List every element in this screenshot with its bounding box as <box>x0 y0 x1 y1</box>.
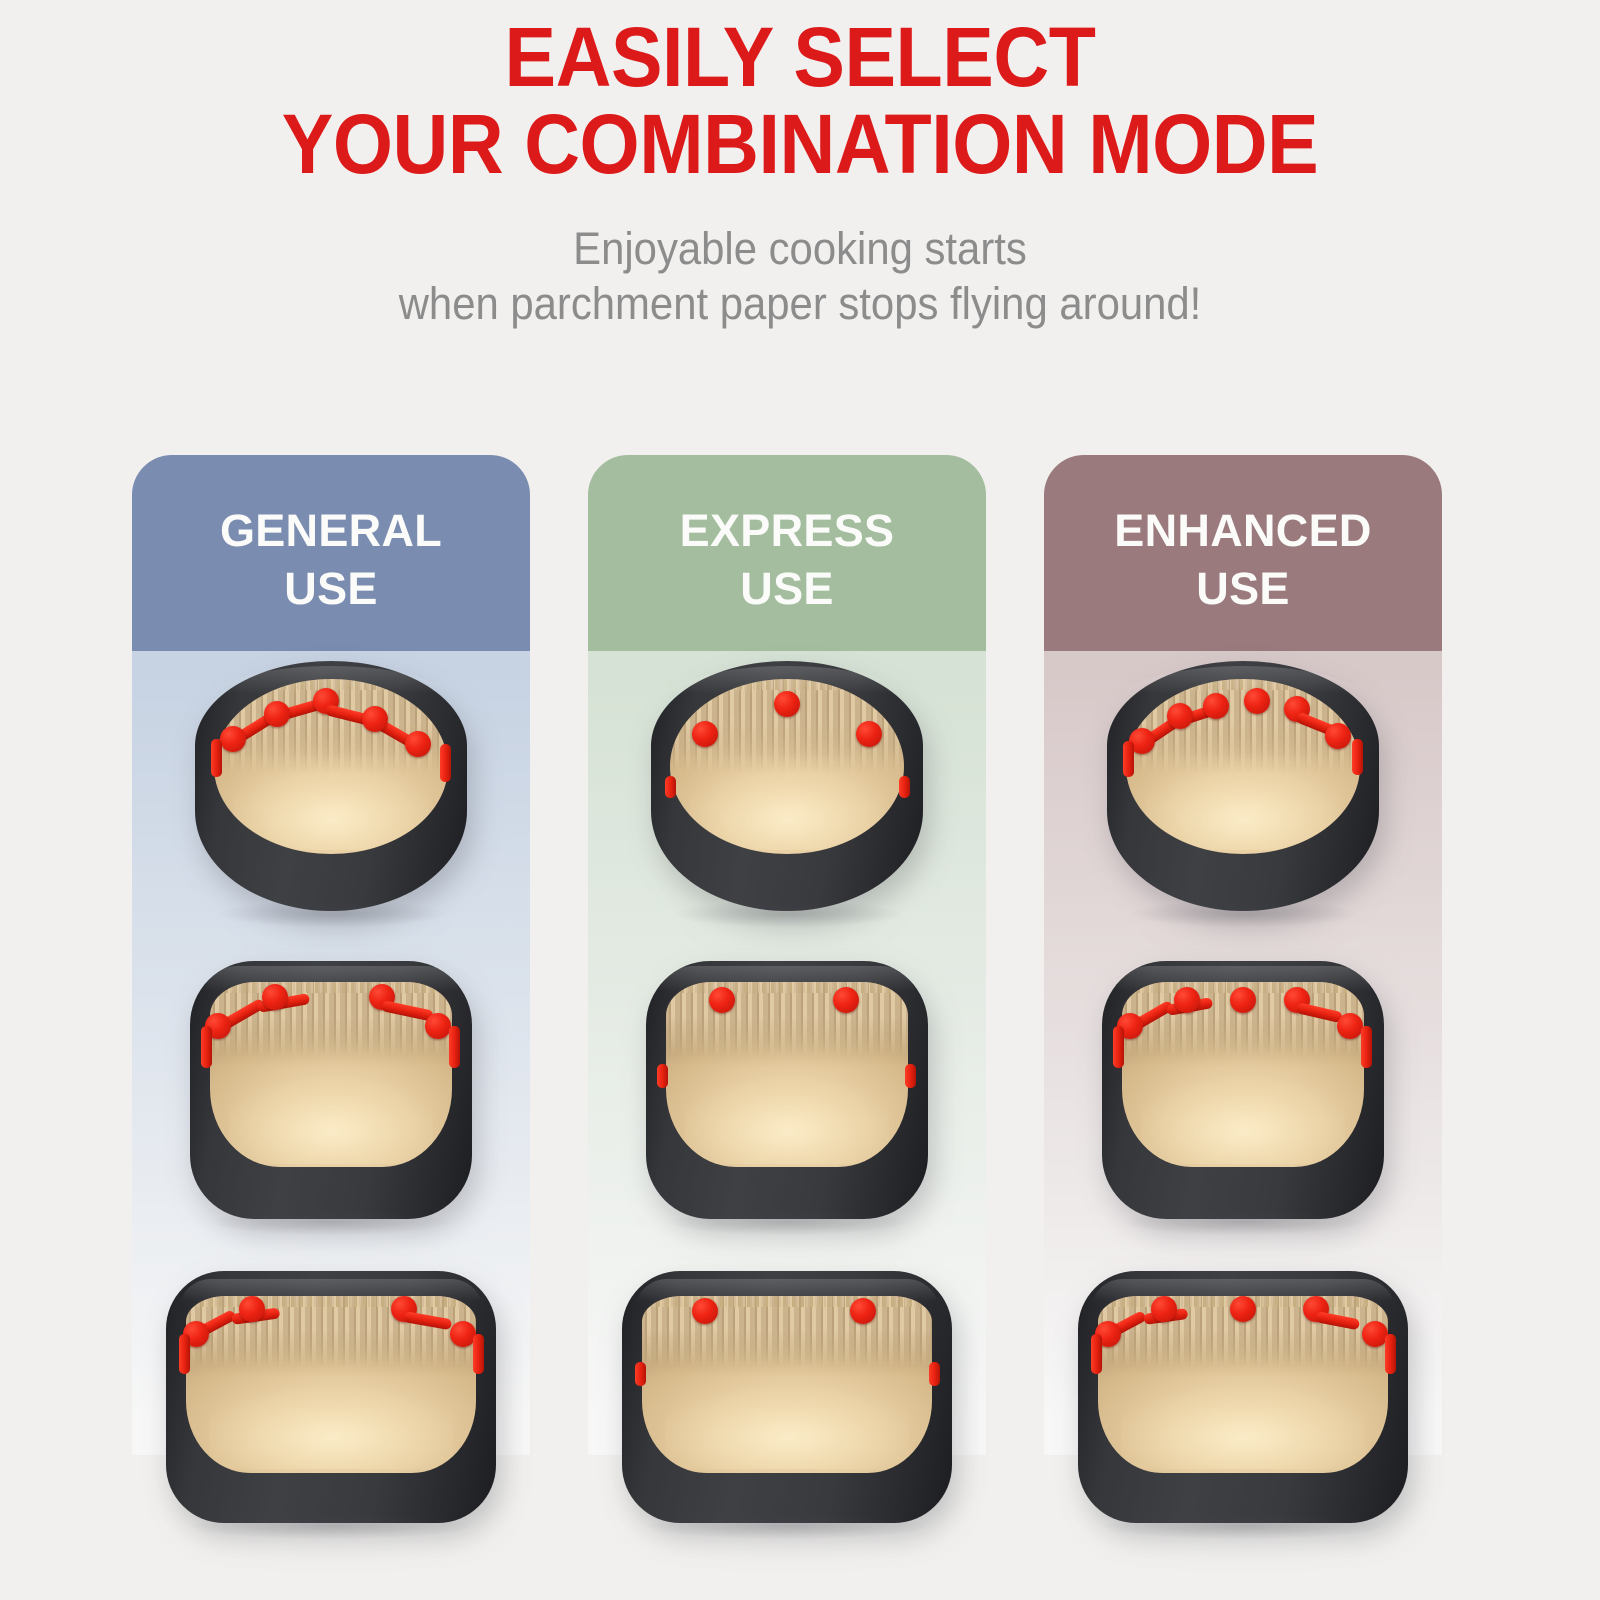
liner-floor-glow <box>665 1360 909 1469</box>
liner-floor-glow <box>689 742 886 851</box>
basket-slot-square <box>1044 961 1442 1219</box>
column-header-express: EXPRESS USE <box>588 455 986 651</box>
basket-slot-rect <box>1044 1271 1442 1523</box>
column-title-line-2: USE <box>1196 560 1289 618</box>
basket-stack-express <box>588 651 986 1455</box>
basket-ground-shadow <box>217 901 446 927</box>
parchment-teeth <box>186 1296 476 1307</box>
basket-cavity <box>186 1296 476 1472</box>
column-header-enhanced: ENHANCED USE <box>1044 455 1442 651</box>
parchment-teeth <box>1098 1296 1388 1307</box>
parchment-pleats <box>186 1296 476 1367</box>
basket-stack-general <box>132 651 530 1455</box>
column-title-line-1: EXPRESS <box>680 502 895 560</box>
basket-slot-rect <box>132 1271 530 1523</box>
parchment-teeth <box>214 679 448 690</box>
mode-column-enhanced[interactable]: ENHANCED USE <box>1044 455 1442 1455</box>
air-fryer-basket-round <box>651 661 923 911</box>
basket-cavity <box>1098 1296 1388 1472</box>
column-title-line-1: GENERAL <box>220 502 442 560</box>
liner-floor-glow <box>209 1360 453 1469</box>
basket-ground-shadow <box>1104 1513 1381 1539</box>
basket-cavity <box>1126 679 1360 854</box>
liner-floor-glow <box>685 1049 889 1164</box>
basket-slot-round <box>1044 661 1442 911</box>
air-fryer-basket-round <box>1107 661 1379 911</box>
air-fryer-basket-round <box>195 661 467 911</box>
subheadline-line-2: when parchment paper stops flying around… <box>56 277 1544 332</box>
parchment-teeth <box>642 1296 932 1307</box>
air-fryer-basket-rect <box>166 1271 496 1523</box>
air-fryer-basket-square <box>646 961 928 1219</box>
liner-floor-glow <box>233 742 430 851</box>
column-title-line-1: ENHANCED <box>1114 502 1371 560</box>
parchment-teeth <box>210 982 453 993</box>
parchment-pleats <box>642 1296 932 1367</box>
air-fryer-basket-square <box>1102 961 1384 1219</box>
parchment-pleats <box>666 982 909 1056</box>
mode-column-general[interactable]: GENERAL USE <box>132 455 530 1455</box>
headline-line-1: EASILY SELECT <box>64 14 1536 101</box>
basket-ground-shadow <box>669 1209 906 1235</box>
basket-ground-shadow <box>648 1513 925 1539</box>
parchment-teeth <box>1122 982 1365 993</box>
liner-floor-glow <box>229 1049 433 1164</box>
liner-floor-glow <box>1121 1360 1365 1469</box>
basket-cavity <box>642 1296 932 1472</box>
column-header-general: GENERAL USE <box>132 455 530 651</box>
basket-cavity <box>670 679 904 854</box>
liner-floor-glow <box>1145 742 1342 851</box>
parchment-teeth <box>666 982 909 993</box>
basket-stack-enhanced <box>1044 651 1442 1455</box>
column-title-line-2: USE <box>740 560 833 618</box>
parchment-pleats <box>1098 1296 1388 1367</box>
basket-ground-shadow <box>192 1513 469 1539</box>
basket-ground-shadow <box>673 901 902 927</box>
air-fryer-basket-rect <box>1078 1271 1408 1523</box>
column-title-line-2: USE <box>284 560 377 618</box>
basket-cavity <box>214 679 448 854</box>
basket-slot-square <box>132 961 530 1219</box>
mode-columns: GENERAL USE <box>132 455 1442 1455</box>
parchment-teeth <box>670 679 904 690</box>
page-subheadline: Enjoyable cooking starts when parchment … <box>56 222 1544 332</box>
basket-cavity <box>1122 982 1365 1168</box>
basket-slot-round <box>132 661 530 911</box>
basket-slot-square <box>588 961 986 1219</box>
headline-line-2: YOUR COMBINATION MODE <box>64 101 1536 188</box>
basket-ground-shadow <box>1129 901 1358 927</box>
basket-cavity <box>666 982 909 1168</box>
air-fryer-basket-square <box>190 961 472 1219</box>
page-headline: EASILY SELECT YOUR COMBINATION MODE <box>64 14 1536 187</box>
basket-slot-rect <box>588 1271 986 1523</box>
basket-ground-shadow <box>213 1209 450 1235</box>
parchment-pleats <box>1122 982 1365 1056</box>
subheadline-line-1: Enjoyable cooking starts <box>56 222 1544 277</box>
air-fryer-basket-rect <box>622 1271 952 1523</box>
basket-ground-shadow <box>1125 1209 1362 1235</box>
basket-slot-round <box>588 661 986 911</box>
mode-column-express[interactable]: EXPRESS USE <box>588 455 986 1455</box>
basket-cavity <box>210 982 453 1168</box>
liner-floor-glow <box>1141 1049 1345 1164</box>
parchment-teeth <box>1126 679 1360 690</box>
parchment-pleats <box>210 982 453 1056</box>
